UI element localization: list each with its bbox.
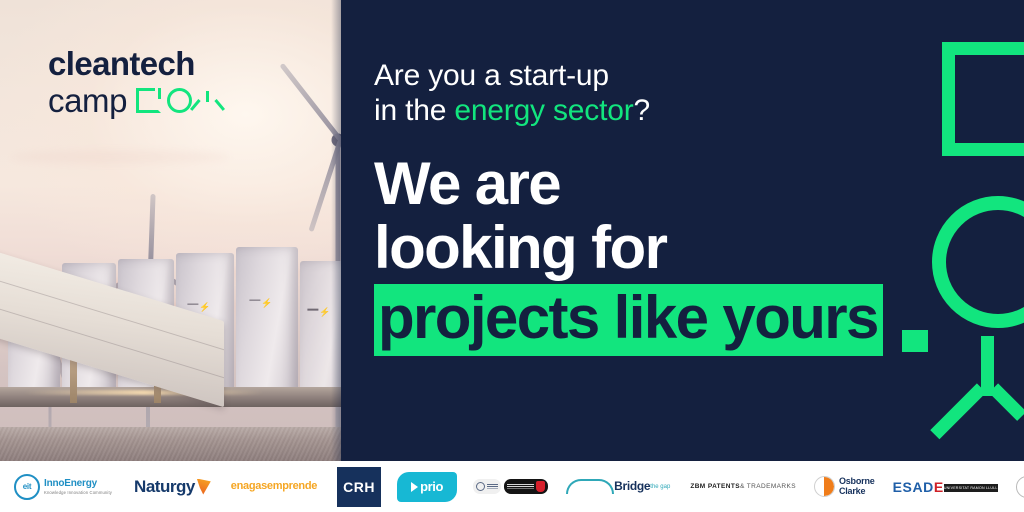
ground xyxy=(0,427,341,461)
partner-subtitle: Clarke xyxy=(839,487,875,496)
partner-eit-innoenergy[interactable]: eit InnoEnergy Knowledge Innovation Comm… xyxy=(0,461,112,512)
partner-title: Naturgy xyxy=(134,477,195,497)
partner-zbm-patents[interactable]: ZBM PATENTS & TRADEMARKS xyxy=(690,461,796,512)
partner-title: enagas xyxy=(231,481,267,492)
bridge-arc-icon xyxy=(566,479,614,494)
partner-esade[interactable]: ESADE UNIVERSITAT RAMON LLULL xyxy=(893,461,998,512)
hero-photo: ⚡ ⚡ ⚡ ⚡ ⚡ ⚡ cleantech camp xyxy=(0,0,341,461)
solar-panel xyxy=(0,283,224,403)
logo-line-one: cleantech xyxy=(48,47,217,80)
partner-title: Bridge xyxy=(614,479,650,493)
kicker-line-two-suffix: ? xyxy=(634,94,651,127)
headline-line-three-highlight: projects like yours xyxy=(374,284,883,356)
partner-generalitat-catalunya[interactable] xyxy=(473,461,548,512)
partner-tagline: the gap xyxy=(650,484,670,490)
kicker-text: Are you a start-up in the energy sector? xyxy=(374,58,844,129)
ceec-circle-icon xyxy=(1016,476,1024,498)
esade-bar: UNIVERSITAT RAMON LLULL xyxy=(944,484,998,492)
cloud xyxy=(10,150,230,164)
campaign-banner: ⚡ ⚡ ⚡ ⚡ ⚡ ⚡ cleantech camp xyxy=(0,0,1024,512)
gencat-dark-badge-icon xyxy=(504,479,548,494)
eit-mark-text: eit xyxy=(23,482,31,491)
partner-title: ESADE xyxy=(893,479,944,495)
logo-mark xyxy=(136,88,217,113)
kicker-line-one: Are you a start-up xyxy=(374,59,609,92)
partner-ceec[interactable]: CEEC Clúster de l'Energia Eficient de Ca… xyxy=(1016,461,1024,512)
partner-title: CRH xyxy=(343,479,375,495)
partner-crh[interactable]: CRH xyxy=(337,467,381,507)
square-bracket-icon-large xyxy=(942,42,1024,156)
partner-subtitle: & TRADEMARKS xyxy=(740,483,796,490)
partner-title: prio xyxy=(420,479,443,494)
partner-osborne-clarke[interactable]: Osborne Clarke xyxy=(814,461,875,512)
partner-bar-text: UNIVERSITAT RAMON LLULL xyxy=(944,486,998,490)
gencat-light-badge-icon xyxy=(473,479,501,494)
logo-line-two: camp xyxy=(48,84,127,117)
headline-line-one: We are xyxy=(374,152,994,216)
square-bracket-icon xyxy=(136,88,161,113)
tripod-icon xyxy=(198,91,217,111)
esade-accent-letter: E xyxy=(934,479,944,495)
partner-tagline: Knowledge Innovation Community xyxy=(44,490,112,495)
headline-line-two: looking for xyxy=(374,216,994,280)
partner-title: ZBM PATENTS xyxy=(690,483,740,490)
eit-circle-icon: eit xyxy=(14,474,40,500)
partner-logo-bar: eit InnoEnergy Knowledge Innovation Comm… xyxy=(0,461,1024,512)
naturgy-flame-icon xyxy=(197,479,211,495)
partner-prio[interactable]: prio xyxy=(397,472,457,502)
kicker-line-two-prefix: in the xyxy=(374,94,454,127)
partner-enagas-emprende[interactable]: enagas emprende xyxy=(231,461,317,512)
partner-bridge-the-gap[interactable]: Bridge the gap xyxy=(566,461,670,512)
osborne-circle-icon xyxy=(814,476,835,497)
headline: We are looking for projects like yours xyxy=(374,152,994,356)
partner-subtitle: emprende xyxy=(267,481,317,493)
cleantech-camp-logo: cleantech camp xyxy=(48,47,217,117)
partner-title: InnoEnergy xyxy=(44,478,112,489)
prio-arrow-icon xyxy=(411,482,418,492)
circle-icon xyxy=(167,88,192,113)
partner-naturgy[interactable]: Naturgy xyxy=(134,461,211,512)
kicker-accent: energy sector xyxy=(454,94,633,127)
photo-edge-fade xyxy=(331,0,341,461)
message-panel: Are you a start-up in the energy sector?… xyxy=(341,0,1024,461)
